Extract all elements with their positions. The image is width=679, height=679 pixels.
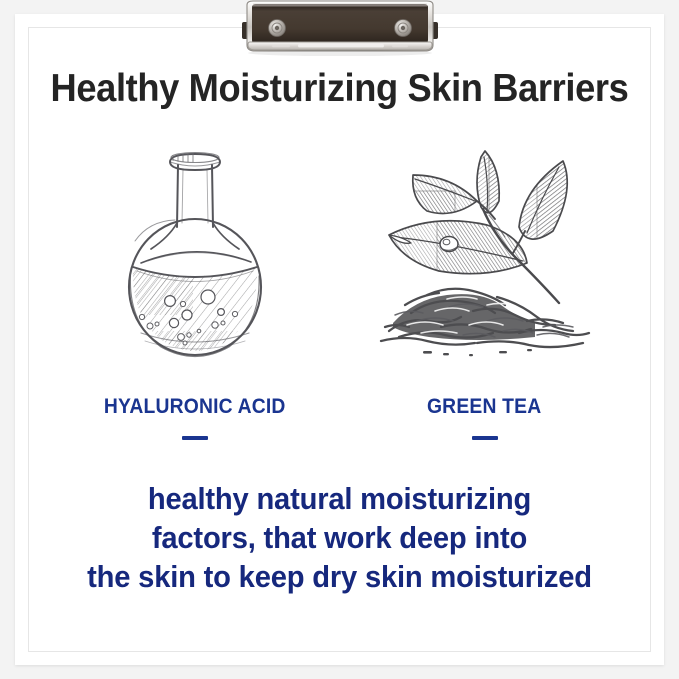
- description-line-3: the skin to keep dry skin moisturized: [47, 557, 633, 596]
- dried-tea-pile: [381, 283, 589, 356]
- ingredient-label-hyaluronic-acid: HYALURONIC ACID: [104, 395, 286, 419]
- ingredient-label-green-tea: GREEN TEA: [427, 395, 541, 419]
- content-area: Healthy Moisturizing Skin Barriers: [28, 27, 651, 652]
- description-text: healthy natural moisturizing factors, th…: [28, 479, 651, 596]
- ingredient-divider-green-tea: [472, 436, 498, 440]
- ingredient-divider-hyaluronic-acid: [182, 436, 208, 440]
- clip-rivet-left: [269, 20, 286, 37]
- ingredient-card-green-tea: GREEN TEA: [340, 131, 630, 440]
- clip-rivet-right: [395, 20, 412, 37]
- ingredient-columns: HYALURONIC ACID: [28, 131, 651, 440]
- infographic-canvas: Healthy Moisturizing Skin Barriers: [0, 0, 679, 679]
- flask-sketch-icon: [111, 131, 279, 371]
- description-line-2: factors, that work deep into: [47, 518, 633, 557]
- ingredient-card-hyaluronic-acid: HYALURONIC ACID: [50, 131, 340, 440]
- description-line-1: healthy natural moisturizing: [47, 479, 633, 518]
- page-title: Healthy Moisturizing Skin Barriers: [50, 67, 629, 111]
- tea-leaves-sketch-icon: [377, 131, 592, 371]
- clipboard-clip: [236, 0, 444, 56]
